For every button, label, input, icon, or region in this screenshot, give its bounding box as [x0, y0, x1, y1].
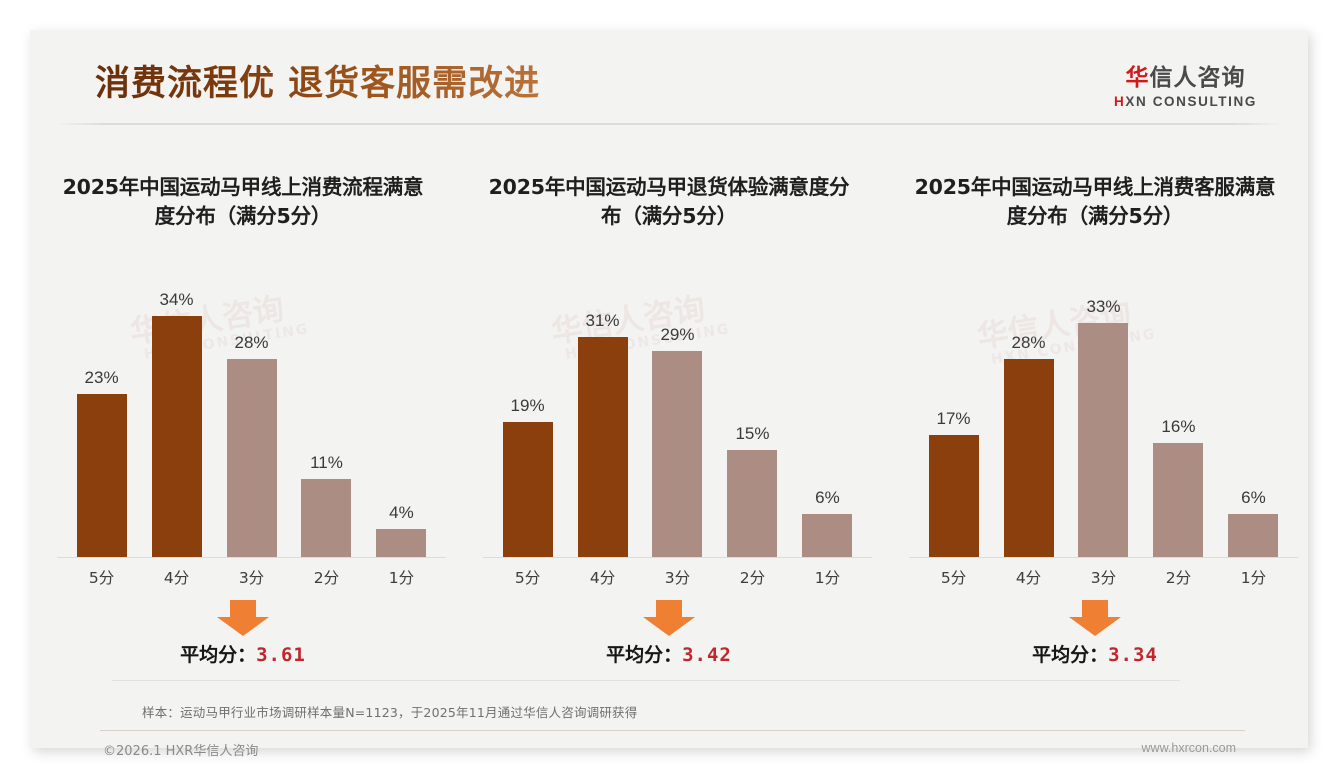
bar-item[interactable]: 15% [715, 273, 790, 557]
footer-divider [100, 730, 1245, 731]
down-arrow-icon [643, 600, 695, 636]
bar-value-label: 16% [1161, 417, 1195, 437]
bar-rect[interactable] [1228, 514, 1278, 557]
logo-chinese-text: 华信人咨询 [1098, 58, 1273, 92]
x-axis-labels-1: 5分 4分 3分 2分 1分 [64, 566, 439, 594]
bar-value-label: 29% [660, 325, 694, 345]
copyright-text: ©2026.1 HXR华信人咨询 [103, 740, 258, 759]
x-axis-tick: 5分 [64, 566, 139, 594]
bar-item[interactable]: 16% [1141, 273, 1216, 557]
x-axis-labels-2: 5分 4分 3分 2分 1分 [490, 566, 865, 594]
bar-value-label: 4% [389, 503, 414, 523]
x-axis-tick: 1分 [364, 566, 439, 594]
slide-header: 消费流程优 退货客服需改进 华信人咨询 HXN CONSULTING [30, 30, 1308, 123]
bar-item[interactable]: 28% [214, 273, 289, 557]
header-divider [55, 123, 1283, 125]
website-url[interactable]: www.hxrcon.com [1142, 741, 1236, 755]
bar-item[interactable]: 31% [565, 273, 640, 557]
bar-item[interactable]: 17% [916, 273, 991, 557]
down-arrow-icon [217, 600, 269, 636]
average-label: 平均分： [606, 644, 682, 666]
chart-baseline [483, 557, 873, 558]
bar-rect[interactable] [578, 337, 628, 557]
bar-rect[interactable] [652, 351, 702, 557]
bar-rect[interactable] [727, 450, 777, 557]
average-score-2: 平均分：3.42 [456, 640, 882, 667]
bar-rect[interactable] [301, 479, 351, 557]
bar-rect[interactable] [503, 422, 553, 557]
bar-item[interactable]: 33% [1066, 273, 1141, 557]
plot-area-2: 19% 31% 29% 15% [490, 273, 865, 558]
bar-rect[interactable] [376, 529, 426, 557]
average-label: 平均分： [1032, 644, 1108, 666]
page-title: 消费流程优 退货客服需改进 [95, 55, 540, 106]
x-axis-tick: 2分 [289, 566, 364, 594]
x-axis-tick: 3分 [640, 566, 715, 594]
sample-footnote: 样本：运动马甲行业市场调研样本量N=1123，于2025年11月通过华信人咨询调… [142, 702, 637, 721]
bar-rect[interactable] [802, 514, 852, 557]
bars-3: 17% 28% 33% 16% [916, 273, 1291, 557]
footnote-divider [112, 680, 1180, 681]
bar-value-label: 15% [735, 424, 769, 444]
x-axis-tick: 4分 [565, 566, 640, 594]
bar-item[interactable]: 29% [640, 273, 715, 557]
bars-1: 23% 34% 28% 11% [64, 273, 439, 557]
bar-item[interactable]: 23% [64, 273, 139, 557]
chart-panel-3: 2025年中国运动马甲线上消费客服满意度分布（满分5分） 华信人咨询 HXN C… [882, 148, 1308, 668]
x-axis-tick: 4分 [139, 566, 214, 594]
bar-item[interactable]: 4% [364, 273, 439, 557]
plot-area-1: 23% 34% 28% 11% [64, 273, 439, 558]
chart-baseline [909, 557, 1299, 558]
average-score-3: 平均分：3.34 [882, 640, 1308, 667]
average-value: 3.61 [256, 644, 306, 666]
bar-item[interactable]: 19% [490, 273, 565, 557]
bar-value-label: 17% [937, 409, 971, 429]
x-axis-tick: 1分 [790, 566, 865, 594]
bar-value-label: 23% [85, 368, 119, 388]
chart-title-2: 2025年中国运动马甲退货体验满意度分布（满分5分） [482, 173, 857, 231]
bar-item[interactable]: 34% [139, 273, 214, 557]
chart-baseline [57, 557, 447, 558]
bar-item[interactable]: 28% [991, 273, 1066, 557]
bar-rect[interactable] [227, 359, 277, 557]
logo-letter-h: H [1114, 94, 1125, 109]
bar-rect[interactable] [1004, 359, 1054, 557]
logo-chars-rest: 信人咨询 [1150, 65, 1246, 91]
average-value: 3.34 [1108, 644, 1158, 666]
bar-value-label: 19% [511, 396, 545, 416]
bar-value-label: 6% [815, 488, 840, 508]
chart-title-3: 2025年中国运动马甲线上消费客服满意度分布（满分5分） [908, 173, 1283, 231]
bar-value-label: 28% [1011, 333, 1045, 353]
chart-panel-2: 2025年中国运动马甲退货体验满意度分布（满分5分） 华信人咨询 HXN CON… [456, 148, 882, 668]
bar-item[interactable]: 11% [289, 273, 364, 557]
bar-rect[interactable] [1078, 323, 1128, 557]
bar-rect[interactable] [929, 435, 979, 557]
logo-letters-rest: XN CONSULTING [1125, 94, 1257, 109]
bar-item[interactable]: 6% [790, 273, 865, 557]
x-axis-tick: 5分 [490, 566, 565, 594]
plot-area-3: 17% 28% 33% 16% [916, 273, 1291, 558]
x-axis-tick: 2分 [715, 566, 790, 594]
bar-value-label: 28% [234, 333, 268, 353]
logo-english-text: HXN CONSULTING [1098, 94, 1273, 109]
bar-item[interactable]: 6% [1216, 273, 1291, 557]
bar-value-label: 31% [586, 311, 620, 331]
bar-rect[interactable] [152, 316, 202, 557]
bar-value-label: 33% [1086, 297, 1120, 317]
x-axis-tick: 1分 [1216, 566, 1291, 594]
x-axis-tick: 2分 [1141, 566, 1216, 594]
x-axis-tick: 4分 [991, 566, 1066, 594]
bar-rect[interactable] [1153, 443, 1203, 557]
bar-value-label: 6% [1241, 488, 1266, 508]
logo-char-hua: 华 [1126, 65, 1150, 91]
x-axis-labels-3: 5分 4分 3分 2分 1分 [916, 566, 1291, 594]
slide: 消费流程优 退货客服需改进 华信人咨询 HXN CONSULTING 2025年… [30, 30, 1308, 748]
charts-container: 2025年中国运动马甲线上消费流程满意度分布（满分5分） 华信人咨询 HXN C… [30, 148, 1308, 668]
bar-rect[interactable] [77, 394, 127, 557]
chart-title-1: 2025年中国运动马甲线上消费流程满意度分布（满分5分） [56, 173, 431, 231]
average-score-1: 平均分：3.61 [30, 640, 456, 667]
chart-panel-1: 2025年中国运动马甲线上消费流程满意度分布（满分5分） 华信人咨询 HXN C… [30, 148, 456, 668]
down-arrow-icon [1069, 600, 1121, 636]
average-label: 平均分： [180, 644, 256, 666]
x-axis-tick: 5分 [916, 566, 991, 594]
x-axis-tick: 3分 [1066, 566, 1141, 594]
bars-2: 19% 31% 29% 15% [490, 273, 865, 557]
company-logo: 华信人咨询 HXN CONSULTING [1098, 58, 1273, 109]
average-value: 3.42 [682, 644, 732, 666]
bar-value-label: 34% [160, 290, 194, 310]
x-axis-tick: 3分 [214, 566, 289, 594]
bar-value-label: 11% [310, 453, 343, 473]
